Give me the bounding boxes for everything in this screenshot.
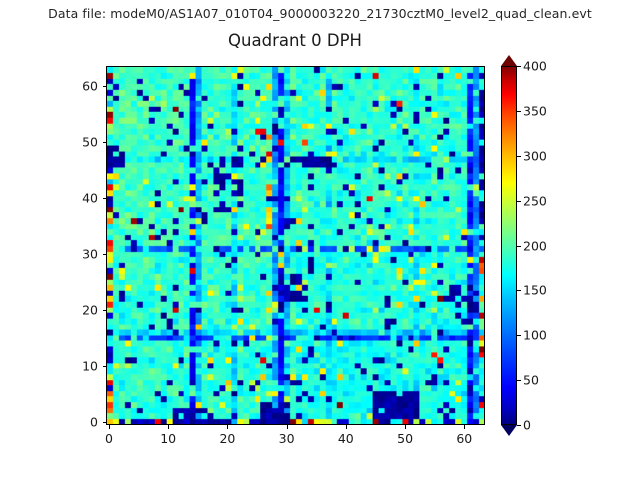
detector-heatmap-image[interactable] bbox=[107, 67, 484, 424]
y-tick-label: 40 bbox=[82, 190, 98, 205]
colorbar-tick-label: 300 bbox=[523, 148, 547, 163]
y-tick-mark bbox=[103, 86, 107, 87]
colorbar-tick-mark bbox=[517, 246, 521, 247]
colorbar[interactable] bbox=[501, 66, 517, 425]
x-tick-mark bbox=[405, 425, 406, 429]
x-tick-mark bbox=[287, 425, 288, 429]
heatmap-axes[interactable] bbox=[106, 66, 485, 425]
y-tick-label: 10 bbox=[82, 359, 98, 374]
x-tick-label: 0 bbox=[105, 431, 113, 446]
colorbar-extend-min-arrow-icon bbox=[501, 425, 517, 436]
colorbar-tick-mark bbox=[517, 201, 521, 202]
colorbar-tick-label: 400 bbox=[523, 59, 547, 74]
x-tick-label: 30 bbox=[279, 431, 295, 446]
x-tick-mark bbox=[109, 425, 110, 429]
y-tick-mark bbox=[103, 366, 107, 367]
colorbar-tick-label: 150 bbox=[523, 283, 547, 298]
figure-canvas: Data file: modeM0/AS1A07_010T04_90000032… bbox=[0, 0, 640, 480]
x-tick-mark bbox=[346, 425, 347, 429]
colorbar-tick-label: 200 bbox=[523, 238, 547, 253]
x-tick-label: 40 bbox=[338, 431, 354, 446]
x-tick-mark bbox=[464, 425, 465, 429]
colorbar-tick-label: 0 bbox=[523, 418, 531, 433]
x-tick-label: 20 bbox=[219, 431, 235, 446]
colorbar-tick-label: 250 bbox=[523, 193, 547, 208]
y-tick-mark bbox=[103, 142, 107, 143]
data-file-label: Data file: modeM0/AS1A07_010T04_90000032… bbox=[48, 6, 592, 21]
colorbar-tick-mark bbox=[517, 290, 521, 291]
x-tick-mark bbox=[227, 425, 228, 429]
y-tick-mark bbox=[103, 254, 107, 255]
colorbar-tick-mark bbox=[517, 156, 521, 157]
x-tick-label: 10 bbox=[160, 431, 176, 446]
y-tick-mark bbox=[103, 422, 107, 423]
colorbar-extend-max-arrow-icon bbox=[501, 55, 517, 66]
page-title: Quadrant 0 DPH bbox=[228, 31, 362, 50]
colorbar-tick-mark bbox=[517, 425, 521, 426]
y-tick-mark bbox=[103, 198, 107, 199]
x-tick-label: 60 bbox=[456, 431, 472, 446]
y-tick-label: 50 bbox=[82, 134, 98, 149]
colorbar-body bbox=[501, 66, 517, 425]
colorbar-gradient bbox=[501, 66, 517, 425]
colorbar-tick-label: 100 bbox=[523, 328, 547, 343]
colorbar-tick-label: 50 bbox=[523, 373, 539, 388]
y-tick-label: 60 bbox=[82, 78, 98, 93]
y-tick-label: 30 bbox=[82, 246, 98, 261]
colorbar-tick-mark bbox=[517, 66, 521, 67]
colorbar-tick-mark bbox=[517, 380, 521, 381]
x-tick-label: 50 bbox=[397, 431, 413, 446]
x-tick-mark bbox=[168, 425, 169, 429]
y-tick-label: 0 bbox=[90, 415, 98, 430]
y-tick-mark bbox=[103, 310, 107, 311]
colorbar-tick-mark bbox=[517, 111, 521, 112]
colorbar-tick-label: 350 bbox=[523, 103, 547, 118]
colorbar-tick-mark bbox=[517, 335, 521, 336]
y-tick-label: 20 bbox=[82, 303, 98, 318]
